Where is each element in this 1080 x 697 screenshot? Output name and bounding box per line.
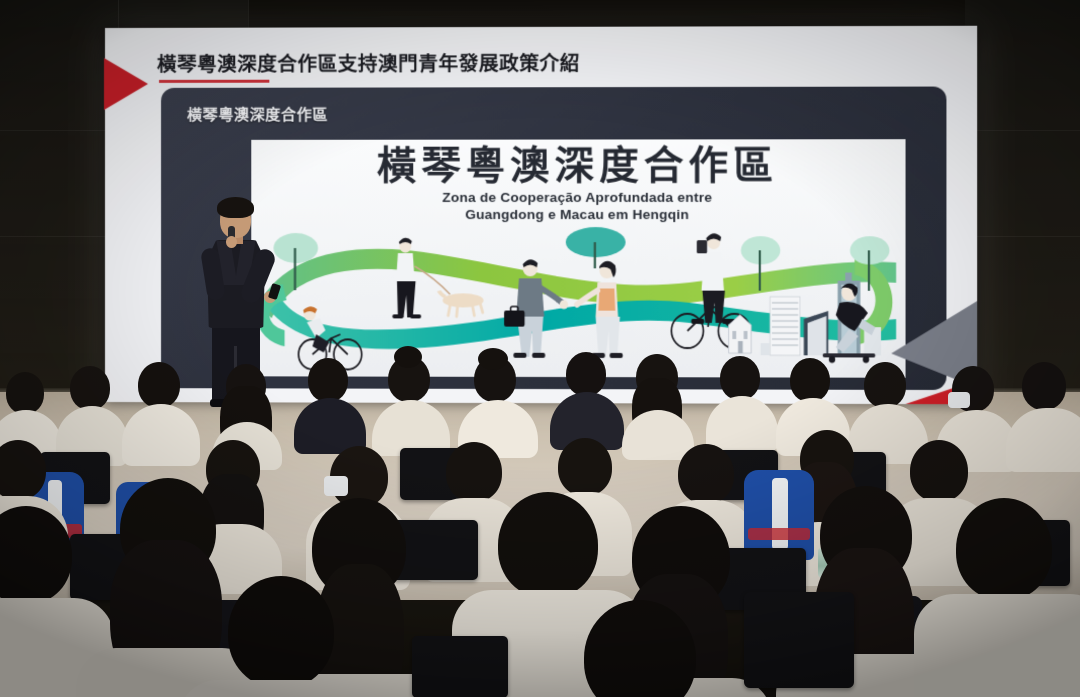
red-triangle-icon <box>104 58 148 110</box>
poster-subtitle-line-1: Zona de Cooperação Aprofundada entre <box>251 190 905 207</box>
hall-wall-panel-left <box>0 0 119 380</box>
poster-subtitle-line-2: Guangdong e Macau em Hengqin <box>251 207 905 224</box>
poster-subtitle-portuguese: Zona de Cooperação Aprofundada entre Gua… <box>251 190 905 224</box>
speaker-leg-split <box>234 346 237 402</box>
infinity-ribbon-illustration-svg <box>251 226 905 378</box>
title-underline <box>159 80 269 83</box>
speaker-shoe <box>210 399 236 407</box>
presentation-clicker-icon <box>268 283 281 300</box>
poster-title-chinese: 橫琴粵澳深度合作區 <box>251 145 905 187</box>
speaker-presenter <box>186 196 296 411</box>
speaker-hand-left <box>226 236 237 248</box>
poster-graphic: 橫琴粵澳深度合作區 Zona de Cooperação Aprofundada… <box>251 139 905 378</box>
hall-wall-panel-right <box>965 0 1080 420</box>
red-chevron-icon <box>906 380 978 404</box>
audience-floor <box>0 470 1080 600</box>
tree-mid <box>566 227 626 268</box>
poster-heading-block: 橫琴粵澳深度合作區 Zona de Cooperação Aprofundada… <box>251 145 905 223</box>
card-label: 橫琴粵澳深度合作區 <box>187 104 328 125</box>
slide-header-title: 橫琴粵澳深度合作區支持澳門青年發展政策介紹 <box>157 47 580 77</box>
speaker-hair <box>217 197 254 218</box>
presentation-scene: 橫琴粵澳深度合作區支持澳門青年發展政策介紹 橫琴粵澳深度合作區 橫琴粵澳深度合作… <box>0 0 1080 697</box>
gray-chevron-icon <box>891 301 977 388</box>
poster-illustration <box>251 226 905 378</box>
